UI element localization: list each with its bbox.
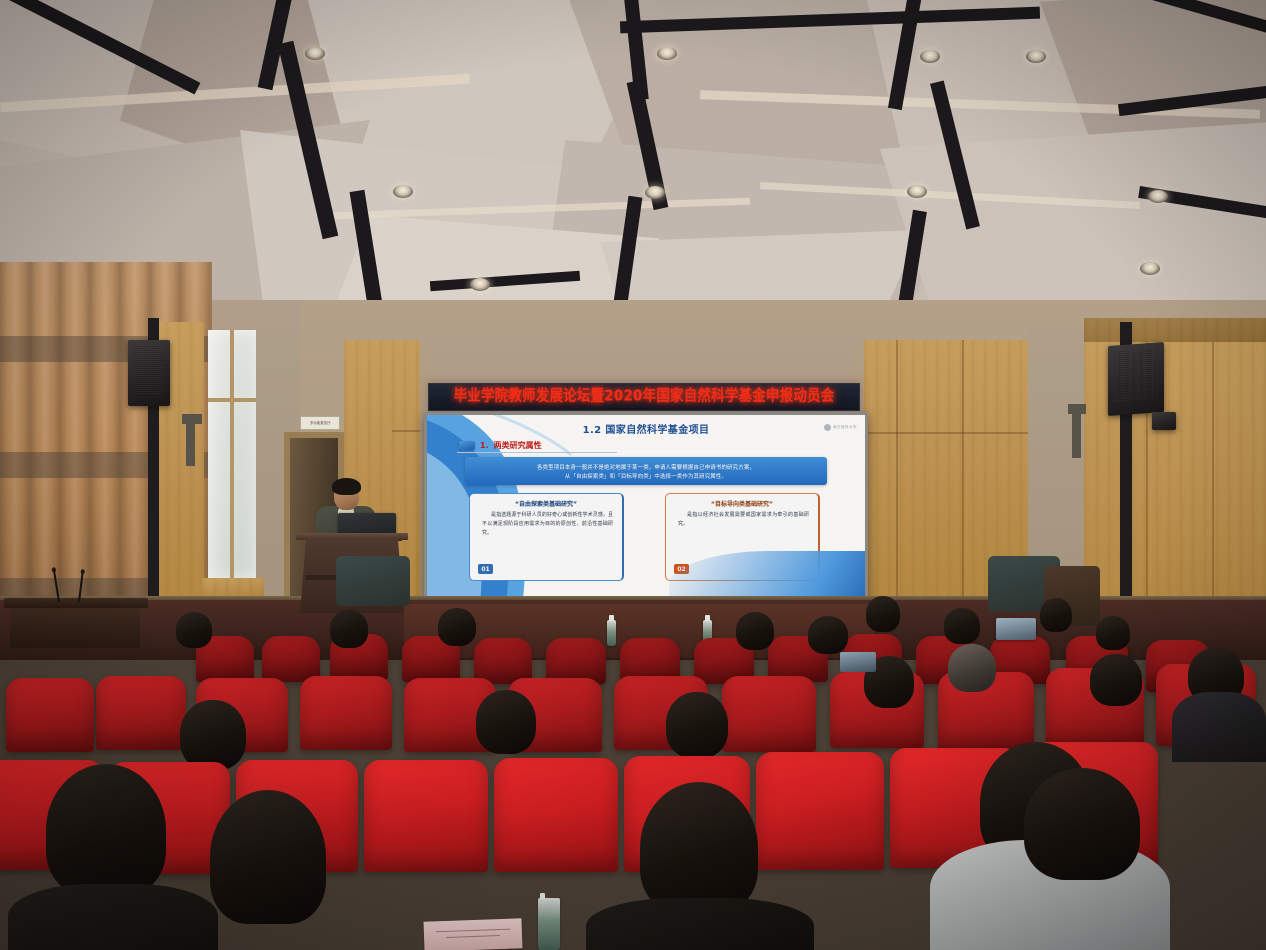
projection-screen-frame: 1.2 国家自然科学基金项目 南方医科大学 1. 两类研究属性 各类型项目本身一… bbox=[424, 412, 868, 604]
seat bbox=[300, 676, 392, 750]
slide-callout: 各类型项目本身一般并不是绝对地属于某一类，申请人需要根据自己申请书的研究方案， … bbox=[465, 457, 827, 485]
ceiling-spotlight bbox=[920, 50, 940, 63]
audience-head bbox=[210, 790, 326, 924]
audience-head bbox=[476, 690, 536, 754]
audience-head bbox=[176, 612, 212, 648]
left-wall-bracket bbox=[186, 418, 195, 466]
university-name: 南方医科大学 bbox=[833, 425, 857, 430]
window-sill bbox=[202, 578, 264, 596]
seat bbox=[96, 676, 186, 750]
audience-head bbox=[1024, 768, 1140, 880]
ceiling-spotlight bbox=[393, 185, 413, 198]
projection-screen: 1.2 国家自然科学基金项目 南方医科大学 1. 两类研究属性 各类型项目本身一… bbox=[427, 415, 865, 601]
handout-pamphlet bbox=[424, 918, 523, 950]
section-number: 1. bbox=[480, 441, 489, 450]
seat bbox=[262, 636, 320, 682]
audience-shoulders bbox=[8, 884, 218, 950]
card-02-heading: “目标导向类基础研究” bbox=[666, 499, 818, 508]
right-wall-bracket bbox=[1072, 408, 1081, 458]
audience-head bbox=[1040, 598, 1072, 632]
window-mullion bbox=[230, 330, 234, 580]
callout-line-1: 各类型项目本身一般并不是绝对地属于某一类，申请人需要根据自己申请书的研究方案， bbox=[537, 463, 755, 471]
audience-shoulders bbox=[586, 898, 814, 950]
callout-line-2: 从「自由探索类」和「目标导向类」中选择一类作为其研究属性。 bbox=[565, 472, 727, 480]
slide-title: 1.2 国家自然科学基金项目 bbox=[427, 421, 865, 436]
left-wall-speaker bbox=[128, 340, 170, 406]
presenter-hair bbox=[332, 478, 361, 495]
ceiling-spotlight bbox=[1140, 262, 1160, 275]
university-logo: 南方医科大学 bbox=[824, 424, 857, 431]
audience-head bbox=[948, 644, 996, 692]
seat bbox=[722, 676, 816, 752]
card-01-body: 是指选题源于科研人员的好奇心或创新性学术灵感，且不以满足现阶段应用需求为目的的原… bbox=[482, 511, 613, 538]
audience-head bbox=[640, 782, 758, 914]
auditorium-photo: 多功能报告厅 毕业学院教师发展论坛暨2020年国家自然科学基金申报动员会 bbox=[0, 0, 1266, 950]
audience-laptop bbox=[996, 618, 1036, 640]
ceiling-spotlight bbox=[645, 186, 665, 199]
audience-head bbox=[330, 610, 368, 648]
ceiling-spotlight bbox=[1148, 190, 1168, 203]
seat bbox=[494, 758, 618, 872]
ceiling-spotlight bbox=[907, 185, 927, 198]
audience-laptop bbox=[840, 652, 876, 672]
right-speaker-bracket bbox=[1152, 412, 1176, 430]
section-chip-icon bbox=[459, 441, 475, 450]
av-console bbox=[10, 606, 140, 648]
ceiling-spotlight bbox=[305, 47, 325, 60]
audience-head bbox=[736, 612, 774, 650]
ceiling-spotlight bbox=[1026, 50, 1046, 63]
audience-head bbox=[180, 700, 246, 770]
led-banner: 毕业学院教师发展论坛暨2020年国家自然科学基金申报动员会 bbox=[428, 383, 860, 411]
water-bottle bbox=[538, 898, 560, 950]
right-wall-bracket bbox=[1068, 404, 1086, 414]
av-console-top bbox=[4, 598, 148, 608]
section-label: 两类研究属性 bbox=[494, 440, 542, 451]
door-sign: 多功能报告厅 bbox=[300, 416, 340, 430]
ceiling-spotlight bbox=[470, 278, 490, 291]
door-sign-label: 多功能报告厅 bbox=[310, 421, 331, 426]
slide-section-row: 1. 两类研究属性 bbox=[459, 440, 542, 451]
ceiling-spotlight bbox=[657, 47, 677, 60]
card-01-heading: “自由探索类基础研究” bbox=[470, 499, 622, 508]
water-bottle bbox=[607, 620, 616, 646]
seat bbox=[6, 678, 94, 752]
seat bbox=[364, 760, 488, 872]
card-01-badge: 01 bbox=[478, 564, 493, 574]
logo-mark bbox=[824, 424, 831, 431]
seat bbox=[756, 752, 884, 870]
right-wood-wall bbox=[1084, 318, 1266, 342]
audience-head bbox=[944, 608, 980, 644]
left-wall-bracket bbox=[182, 414, 202, 424]
audience-shoulders bbox=[1172, 692, 1266, 762]
stage-armchair bbox=[336, 556, 410, 606]
led-banner-text: 毕业学院教师发展论坛暨2020年国家自然科学基金申报动员会 bbox=[454, 389, 835, 404]
section-underline bbox=[457, 452, 617, 453]
audience-head bbox=[666, 692, 728, 758]
right-wall-speaker bbox=[1108, 342, 1164, 416]
slide-card-01: “自由探索类基础研究” 是指选题源于科研人员的好奇心或创新性学术灵感，且不以满足… bbox=[469, 493, 624, 581]
card-02-body: 是指以经济社会发展需要或国家需求为牵引的基础研究。 bbox=[678, 511, 809, 529]
audience-head bbox=[46, 764, 166, 896]
audience-head bbox=[866, 596, 900, 632]
audience-head bbox=[808, 616, 848, 654]
audience-head bbox=[438, 608, 476, 646]
audience-head bbox=[1090, 654, 1142, 706]
audience-head bbox=[1096, 616, 1130, 650]
